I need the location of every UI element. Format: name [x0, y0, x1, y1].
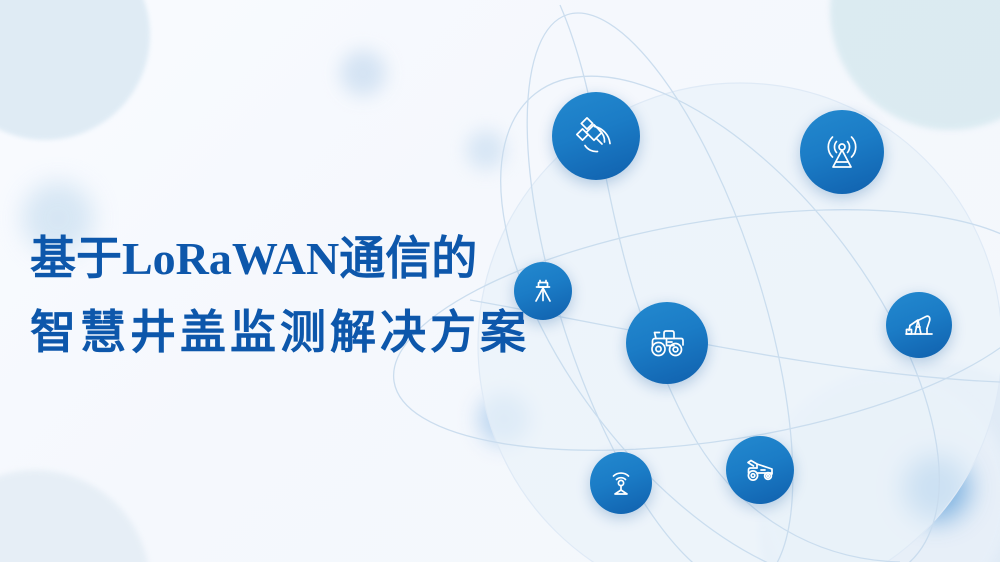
- oil-pumpjack-icon: [901, 307, 937, 343]
- decorative-blob-bottom-right: [760, 362, 1000, 562]
- harvester-icon: [741, 451, 779, 489]
- tractor-icon: [644, 320, 690, 366]
- radio-tower-icon: [819, 129, 865, 175]
- decorative-dot-e: [466, 130, 506, 170]
- node-radio-tower[interactable]: [800, 110, 884, 194]
- node-oil-pumpjack[interactable]: [886, 292, 952, 358]
- node-tractor[interactable]: [626, 302, 708, 384]
- node-satellite[interactable]: [552, 92, 640, 180]
- decorative-blob-bottom-right-2: [760, 372, 1000, 562]
- survey-tripod-icon: [527, 275, 559, 307]
- decorative-blob-bottom-left: [0, 470, 150, 562]
- decorative-dot-a: [340, 50, 386, 96]
- decorative-blob-top-right: [830, 0, 1000, 130]
- node-wireless-beacon[interactable]: [590, 452, 652, 514]
- node-harvester[interactable]: [726, 436, 794, 504]
- slide-title-line-2: 智慧井盖监测解决方案: [30, 302, 530, 364]
- presentation-cover-slide: 基于LoRaWAN通信的 智慧井盖监测解决方案: [0, 0, 1000, 562]
- satellite-signal-icon: [572, 112, 620, 160]
- wireless-beacon-icon: [604, 466, 638, 500]
- decorative-blob-top-left: [0, 0, 150, 140]
- slide-title: 基于LoRaWAN通信的 智慧井盖监测解决方案: [30, 228, 530, 364]
- decorative-dot-c: [478, 393, 530, 445]
- decorative-dot-d: [903, 455, 969, 521]
- slide-title-line-1: 基于LoRaWAN通信的: [30, 228, 530, 290]
